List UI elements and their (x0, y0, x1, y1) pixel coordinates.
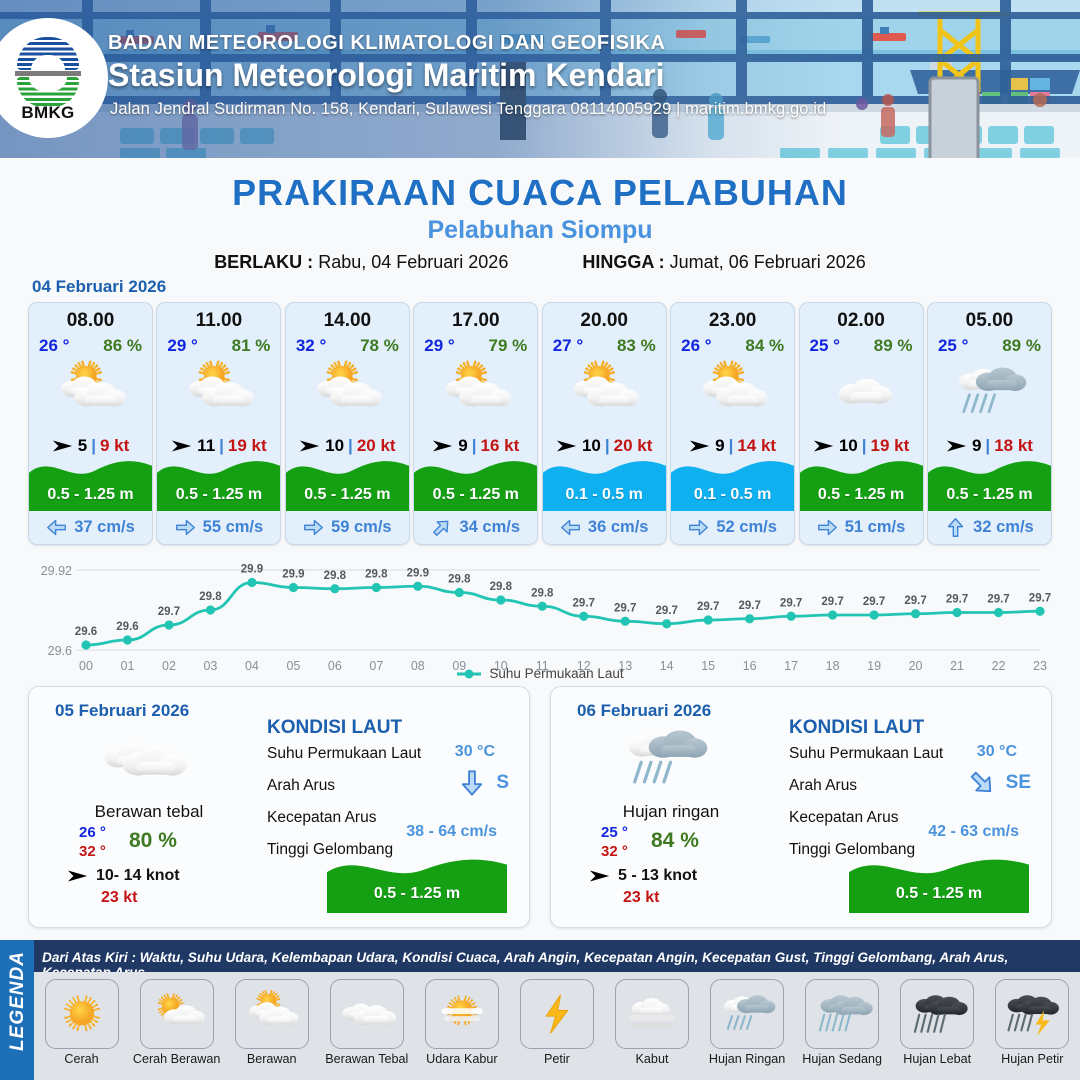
weather-icon-lightning (525, 985, 589, 1043)
card-weather-icon (671, 358, 794, 426)
hourly-forecast-card[interactable]: 11.00 29 ° 81 % 11 | 19 kt (156, 302, 281, 545)
card-wave: 0.5 - 1.25 m (286, 453, 409, 511)
svg-text:29.8: 29.8 (448, 574, 471, 586)
card-humidity: 78 % (360, 336, 399, 356)
weather-icon-moderate-rain (810, 985, 874, 1043)
page-header: BMKG BADAN METEOROLOGI KLIMATOLOGI DAN G… (0, 0, 1080, 158)
weather-icon-light-rain (614, 721, 714, 797)
card-wave-height: 0.1 - 0.5 m (671, 486, 794, 504)
sea-conditions-title: KONDISI LAUT (789, 717, 924, 739)
card-wave: 0.5 - 1.25 m (29, 453, 152, 511)
card-current: 59 cm/s (286, 513, 409, 541)
legend-item-label: Berawan Tebal (321, 1052, 413, 1066)
card-wave-height: 0.5 - 1.25 m (928, 486, 1051, 504)
logo-divider-shape (15, 71, 81, 76)
card-wave-height: 0.5 - 1.25 m (414, 486, 537, 504)
legend-section: LEGENDA Dari Atas Kiri : Waktu, Suhu Uda… (0, 940, 1080, 1080)
svg-text:29.7: 29.7 (987, 594, 1009, 606)
sea-wave-height-value: 0.5 - 1.25 m (849, 885, 1029, 903)
card-humidity: 83 % (617, 336, 656, 356)
svg-text:29.8: 29.8 (365, 569, 388, 581)
card-weather-icon (157, 358, 280, 426)
card-weather-icon (29, 358, 152, 426)
legend-item-icon (235, 979, 309, 1049)
card-wave: 0.1 - 0.5 m (543, 453, 666, 511)
current-direction-arrow-icon (46, 517, 67, 538)
card-humidity: 81 % (232, 336, 271, 356)
hourly-date-label: 04 Februari 2026 (32, 277, 166, 297)
legend-item-label: Cerah Berawan (131, 1052, 223, 1066)
current-direction-arrow-icon (175, 517, 196, 538)
card-temperature: 29 ° (424, 336, 454, 356)
sst-chart-svg: 29.9229.629.60029.60129.70229.80329.9042… (28, 556, 1052, 684)
card-current-speed: 51 cm/s (845, 518, 906, 537)
legend-item-icon (805, 979, 879, 1049)
sea-sst-value: 30 °C (455, 743, 495, 761)
svg-text:29.7: 29.7 (780, 597, 802, 609)
card-current: 34 cm/s (414, 513, 537, 541)
card-time: 17.00 (414, 310, 537, 332)
legend-item: Petir (511, 979, 603, 1066)
legend-item-label: Hujan Sedang (796, 1052, 888, 1066)
card-temperature: 27 ° (553, 336, 583, 356)
weather-icon-partly-cloudy (49, 359, 133, 425)
hourly-forecast-card[interactable]: 14.00 32 ° 78 % 10 | 20 kt (285, 302, 410, 545)
daily-condition: Hujan ringan (551, 802, 791, 822)
legend-item-icon (900, 979, 974, 1049)
card-wave: 0.5 - 1.25 m (928, 453, 1051, 511)
daily-temp-min: 25 ° (601, 824, 628, 841)
wind-direction-arrow-icon (556, 439, 578, 453)
svg-text:29.7: 29.7 (697, 601, 719, 613)
svg-text:29.7: 29.7 (738, 600, 760, 612)
sea-current-direction-label: SE (1006, 772, 1031, 794)
daily-wind-speed: 5 - 13 knot (618, 867, 697, 885)
card-humidity: 89 % (874, 336, 913, 356)
card-temperature: 26 ° (39, 336, 69, 356)
legend-item-label: Hujan Lebat (891, 1052, 983, 1066)
sea-current-speed-value: 38 - 64 cm/s (406, 823, 497, 841)
card-weather-icon (928, 358, 1051, 426)
daily-temp-min: 26 ° (79, 824, 106, 841)
svg-text:29.8: 29.8 (531, 587, 554, 599)
logo-text: BMKG (11, 103, 85, 123)
svg-text:29.6: 29.6 (48, 644, 72, 658)
weather-icon-thunderstorm (1000, 985, 1064, 1043)
legend-item-label: Hujan Petir (986, 1052, 1078, 1066)
legend-item: Hujan Sedang (796, 979, 888, 1066)
card-current-speed: 55 cm/s (203, 518, 264, 537)
hourly-forecast-card[interactable]: 08.00 26 ° 86 % 5 | 9 kt (28, 302, 153, 545)
daily-weather-icon (87, 720, 197, 798)
svg-text:29.9: 29.9 (407, 567, 429, 579)
chart-legend-label: Suhu Permukaan Laut (489, 666, 623, 681)
sea-row-label-current-dir: Arah Arus (789, 777, 857, 795)
card-temperature: 25 ° (938, 336, 968, 356)
current-direction-arrow-icon (458, 769, 486, 797)
current-direction-arrow-icon (303, 517, 324, 538)
legend-item-icon (425, 979, 499, 1049)
svg-text:29.7: 29.7 (1029, 592, 1051, 604)
card-temperature: 25 ° (810, 336, 840, 356)
chart-legend-marker-icon (456, 668, 482, 680)
card-wave: 0.1 - 0.5 m (671, 453, 794, 511)
daily-date: 06 Februari 2026 (577, 701, 711, 721)
hourly-forecast-card[interactable]: 17.00 29 ° 79 % 9 | 16 kt (413, 302, 538, 545)
svg-text:29.9: 29.9 (282, 569, 304, 581)
card-current: 37 cm/s (29, 513, 152, 541)
weather-icon-cloudy (819, 359, 903, 425)
card-wave-height: 0.1 - 0.5 m (543, 486, 666, 504)
sea-sst-value: 30 °C (977, 743, 1017, 761)
wind-direction-arrow-icon (171, 439, 193, 453)
legend-item-label: Cerah (36, 1052, 128, 1066)
card-wave-height: 0.5 - 1.25 m (800, 486, 923, 504)
sea-wave-height: 0.5 - 1.25 m (327, 851, 507, 913)
weather-icon-partly-cloudy (305, 359, 389, 425)
logo-dome-shape (17, 37, 79, 70)
sea-current-direction: SE (968, 769, 1031, 797)
wind-direction-arrow-icon (813, 439, 835, 453)
weather-icon-fog (620, 985, 684, 1043)
weather-icon-light-rain (715, 985, 779, 1043)
legend-item: Kabut (606, 979, 698, 1066)
legend-items-row: Cerah Cerah Berawan (34, 972, 1080, 1080)
card-current: 55 cm/s (157, 513, 280, 541)
legend-tab-label: LEGENDA (7, 942, 29, 1060)
weather-icon-overcast (92, 721, 192, 797)
current-direction-arrow-icon (817, 517, 838, 538)
valid-to-value: Jumat, 06 Februari 2026 (670, 252, 866, 272)
card-humidity: 89 % (1002, 336, 1041, 356)
legend-item: Hujan Petir (986, 979, 1078, 1066)
weather-icon-heavy-rain (905, 985, 969, 1043)
page-title: PRAKIRAAN CUACA PELABUHAN (0, 172, 1080, 214)
sea-conditions-title: KONDISI LAUT (267, 717, 402, 739)
sea-row-label-current-dir: Arah Arus (267, 777, 335, 795)
svg-text:29.8: 29.8 (490, 581, 513, 593)
svg-text:29.7: 29.7 (904, 595, 926, 607)
card-humidity: 86 % (103, 336, 142, 356)
svg-text:29.7: 29.7 (863, 596, 885, 608)
daily-humidity: 84 % (651, 829, 699, 853)
sea-current-direction-label: S (496, 772, 509, 794)
card-wave-height: 0.5 - 1.25 m (286, 486, 409, 504)
card-current: 51 cm/s (800, 513, 923, 541)
daily-temp-max: 32 ° (601, 843, 628, 860)
valid-from: BERLAKU : Rabu, 04 Februari 2026 (214, 252, 508, 273)
wind-direction-arrow-icon (689, 439, 711, 453)
legend-item: Udara Kabur (416, 979, 508, 1066)
wave-shape (849, 851, 1029, 913)
sea-current-speed-value: 42 - 63 cm/s (928, 823, 1019, 841)
sea-row-label-sst: Suhu Permukaan Laut (267, 745, 421, 763)
svg-text:29.9: 29.9 (241, 564, 263, 576)
weather-icon-overcast (335, 985, 399, 1043)
card-current: 36 cm/s (543, 513, 666, 541)
wind-direction-arrow-icon (946, 439, 968, 453)
weather-icon-sun-cloud (145, 985, 209, 1043)
card-wave: 0.5 - 1.25 m (414, 453, 537, 511)
svg-text:29.7: 29.7 (946, 594, 968, 606)
wind-direction-arrow-icon (299, 439, 321, 453)
svg-text:29.7: 29.7 (573, 597, 595, 609)
valid-to-label: HINGGA : (582, 252, 664, 272)
card-temperature: 26 ° (681, 336, 711, 356)
sea-row-label-sst: Suhu Permukaan Laut (789, 745, 943, 763)
wind-direction-arrow-icon (52, 439, 74, 453)
daily-wind-gust: 23 kt (623, 889, 659, 907)
svg-text:29.6: 29.6 (75, 626, 97, 638)
daily-temp-max: 32 ° (79, 843, 106, 860)
current-direction-arrow-icon (962, 763, 1002, 803)
sea-wave-height: 0.5 - 1.25 m (849, 851, 1029, 913)
daily-forecast-panel[interactable]: 05 Februari 2026 Berawan tebal 26 ° 32 °… (28, 686, 530, 928)
svg-text:29.92: 29.92 (41, 564, 72, 578)
card-current-speed: 34 cm/s (459, 518, 520, 537)
legend-item-label: Petir (511, 1052, 603, 1066)
card-wave-height: 0.5 - 1.25 m (29, 486, 152, 504)
legend-item-label: Kabut (606, 1052, 698, 1066)
weather-icon-partly-cloudy (434, 359, 518, 425)
card-weather-icon (286, 358, 409, 426)
svg-text:29.7: 29.7 (158, 606, 180, 618)
wave-shape (327, 851, 507, 913)
svg-text:29.7: 29.7 (614, 602, 636, 614)
card-time: 20.00 (543, 310, 666, 332)
wind-direction-arrow-icon (432, 439, 454, 453)
legend-item-label: Hujan Ringan (701, 1052, 793, 1066)
weather-icon-sun (50, 985, 114, 1043)
page-subtitle: Pelabuhan Siompu (0, 216, 1080, 245)
legend-item: Hujan Lebat (891, 979, 983, 1066)
daily-forecast-row: 05 Februari 2026 Berawan tebal 26 ° 32 °… (28, 686, 1052, 928)
sea-row-label-current-speed: Kecepatan Arus (789, 809, 898, 827)
legend-item: Cerah (36, 979, 128, 1066)
legend-item-icon (330, 979, 404, 1049)
wind-direction-arrow-icon (67, 869, 89, 883)
card-time: 14.00 (286, 310, 409, 332)
card-current: 32 cm/s (928, 513, 1051, 541)
chart-legend: Suhu Permukaan Laut (0, 666, 1080, 681)
weather-icon-partly-cloudy (562, 359, 646, 425)
current-direction-arrow-icon (560, 517, 581, 538)
card-temperature: 32 ° (296, 336, 326, 356)
legend-item-icon (710, 979, 784, 1049)
card-weather-icon (800, 358, 923, 426)
sea-wave-height-value: 0.5 - 1.25 m (327, 885, 507, 903)
daily-weather-icon (609, 720, 719, 798)
card-current-speed: 52 cm/s (716, 518, 777, 537)
hourly-forecast-card[interactable]: 05.00 25 ° 89 % 9 | 18 kt (927, 302, 1052, 545)
daily-wind-speed: 10- 14 knot (96, 867, 180, 885)
legend-item: Cerah Berawan (131, 979, 223, 1066)
legend-item-icon (140, 979, 214, 1049)
svg-text:29.6: 29.6 (116, 621, 138, 633)
sea-row-label-current-speed: Kecepatan Arus (267, 809, 376, 827)
card-weather-icon (543, 358, 666, 426)
legend-item-icon (520, 979, 594, 1049)
legend-item-icon (615, 979, 689, 1049)
card-temperature: 29 ° (167, 336, 197, 356)
header-address: Jalan Jendral Sudirman No. 158, Kendari,… (110, 100, 826, 119)
hourly-forecast-card[interactable]: 20.00 27 ° 83 % 10 | 20 kt (542, 302, 667, 545)
card-time: 02.00 (800, 310, 923, 332)
card-current-speed: 32 cm/s (973, 518, 1034, 537)
valid-to: HINGGA : Jumat, 06 Februari 2026 (582, 252, 865, 273)
card-humidity: 84 % (745, 336, 784, 356)
valid-from-value: Rabu, 04 Februari 2026 (318, 252, 508, 272)
hourly-forecast-card[interactable]: 23.00 26 ° 84 % 9 | 14 kt (670, 302, 795, 545)
daily-wind: 5 - 13 knot (589, 867, 697, 885)
daily-wind: 10- 14 knot (67, 867, 180, 885)
hourly-forecast-row: 08.00 26 ° 86 % 5 | 9 kt (28, 302, 1052, 547)
daily-humidity: 80 % (129, 829, 177, 853)
svg-text:29.7: 29.7 (656, 605, 678, 617)
weather-icon-light-rain (947, 359, 1031, 425)
hourly-forecast-card[interactable]: 02.00 25 ° 89 % 10 | 19 kt 0.5 (799, 302, 924, 545)
legend-item-icon (995, 979, 1069, 1049)
legend-tab: LEGENDA (0, 940, 34, 1080)
validity-row: BERLAKU : Rabu, 04 Februari 2026 HINGGA … (0, 252, 1080, 273)
weather-icon-partly-cloudy (691, 359, 775, 425)
legend-item-icon (45, 979, 119, 1049)
card-current: 52 cm/s (671, 513, 794, 541)
card-time: 05.00 (928, 310, 1051, 332)
card-time: 08.00 (29, 310, 152, 332)
legend-item-label: Berawan (226, 1052, 318, 1066)
wind-direction-arrow-icon (589, 869, 611, 883)
daily-wind-gust: 23 kt (101, 889, 137, 907)
daily-condition: Berawan tebal (29, 802, 269, 822)
card-weather-icon (414, 358, 537, 426)
daily-date: 05 Februari 2026 (55, 701, 189, 721)
header-organization: BADAN METEOROLOGI KLIMATOLOGI DAN GEOFIS… (108, 32, 665, 55)
card-wave-height: 0.5 - 1.25 m (157, 486, 280, 504)
svg-text:29.8: 29.8 (324, 570, 347, 582)
legend-item: Berawan (226, 979, 318, 1066)
current-direction-arrow-icon (945, 517, 966, 538)
legend-item: Berawan Tebal (321, 979, 413, 1066)
weather-icon-partly-cloudy (240, 985, 304, 1043)
card-wave: 0.5 - 1.25 m (800, 453, 923, 511)
card-time: 23.00 (671, 310, 794, 332)
svg-text:29.7: 29.7 (821, 596, 843, 608)
card-current-speed: 36 cm/s (588, 518, 649, 537)
card-wave: 0.5 - 1.25 m (157, 453, 280, 511)
sea-current-direction: S (458, 769, 509, 797)
legend-item-label: Udara Kabur (416, 1052, 508, 1066)
card-time: 11.00 (157, 310, 280, 332)
card-current-speed: 59 cm/s (331, 518, 392, 537)
sst-chart: 29.9229.629.60029.60129.70229.80329.9042… (28, 556, 1052, 684)
valid-from-label: BERLAKU : (214, 252, 313, 272)
card-humidity: 79 % (489, 336, 528, 356)
header-station-name: Stasiun Meteorologi Maritim Kendari (108, 57, 665, 94)
current-direction-arrow-icon (427, 512, 457, 542)
current-direction-arrow-icon (688, 517, 709, 538)
daily-forecast-panel[interactable]: 06 Februari 2026 Hujan ringan 25 ° 32 ° … (550, 686, 1052, 928)
svg-text:29.8: 29.8 (199, 591, 222, 603)
card-current-speed: 37 cm/s (74, 518, 135, 537)
weather-icon-haze (430, 985, 494, 1043)
legend-item: Hujan Ringan (701, 979, 793, 1066)
weather-icon-partly-cloudy (177, 359, 261, 425)
